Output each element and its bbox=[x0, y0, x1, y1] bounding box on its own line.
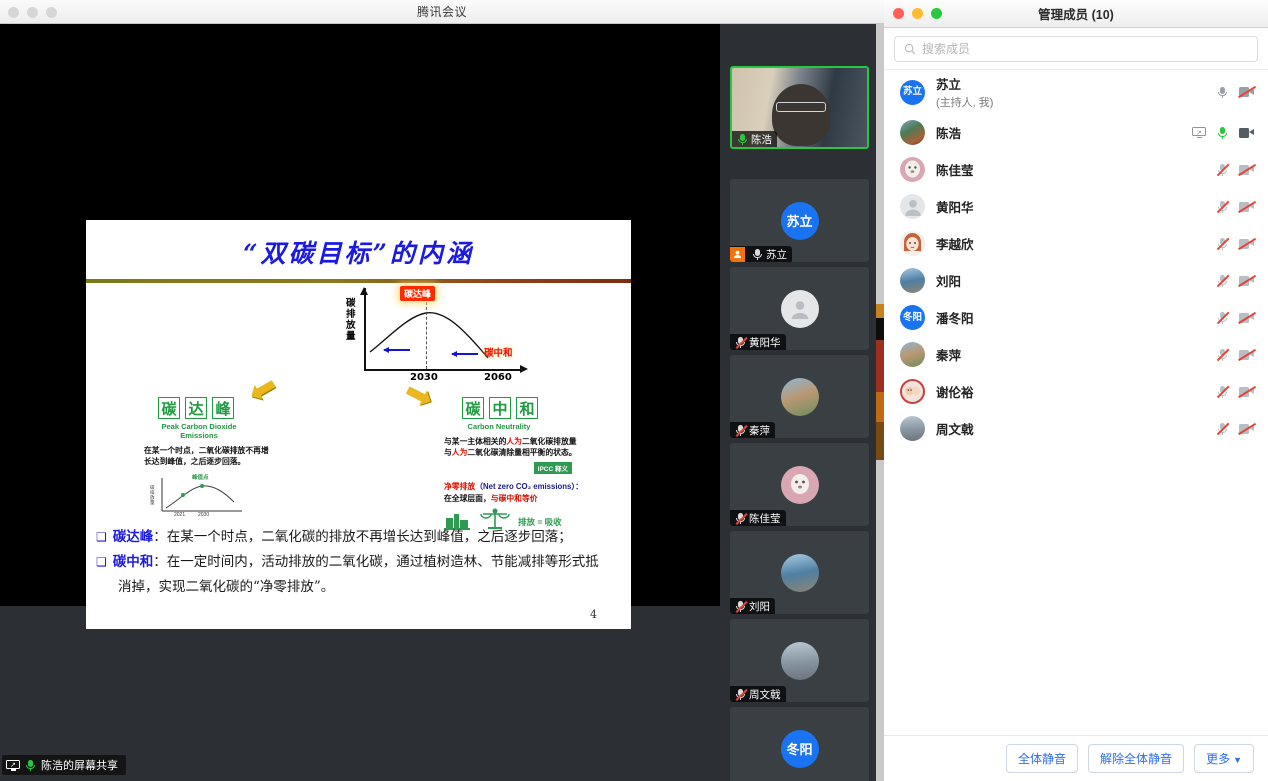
avatar-photo bbox=[900, 342, 925, 367]
chart-arrow-left bbox=[384, 349, 410, 351]
tile-name: 刘阳 bbox=[749, 599, 770, 614]
participant-controls[interactable] bbox=[1217, 163, 1254, 176]
avatar: 冬阳 bbox=[781, 730, 819, 768]
bullet-text: ：在一定时间内，活动排放的二氧化碳，通过植树造林、节能减排等形式抵 bbox=[153, 554, 599, 570]
netzero-line: 净零排放（Net zero CO₂ emissions）： bbox=[444, 481, 619, 492]
emissions-curve-chart: 碳排放量 碳达峰 碳中和 2030 2060 bbox=[336, 288, 526, 383]
mic-off-icon[interactable] bbox=[1217, 274, 1228, 287]
minimize-button[interactable] bbox=[27, 7, 38, 18]
mic-off-icon[interactable] bbox=[1217, 311, 1228, 324]
avatar-initials: 苏立 bbox=[903, 87, 922, 97]
screen-share-banner: ↗ 陈浩的屏幕共享 bbox=[2, 755, 126, 775]
mic-off-icon[interactable] bbox=[1217, 422, 1228, 435]
participants-panel: 管理成员 (10) 苏立 苏立 (主持人, 我) bbox=[884, 0, 1268, 781]
chart-peak-label: 碳达峰 bbox=[400, 286, 435, 301]
background-window-sliver bbox=[876, 24, 884, 781]
maximize-button[interactable] bbox=[931, 8, 942, 19]
tile-name: 黄阳华 bbox=[749, 335, 781, 350]
participant-row-chenjiaying[interactable]: 陈佳莹 bbox=[884, 151, 1268, 188]
mini-chart-ylabel: 碳排放量 bbox=[150, 485, 157, 505]
tile-label: 黄阳华 bbox=[730, 334, 786, 350]
chart-arrow-right bbox=[452, 353, 478, 355]
search-area bbox=[884, 28, 1268, 69]
video-tile-huangyanghua[interactable]: 黄阳华 bbox=[730, 267, 869, 350]
camera-on-icon[interactable] bbox=[1239, 128, 1254, 138]
slide-title: “双碳目标”的内涵 bbox=[86, 234, 631, 270]
mic-on-icon bbox=[25, 759, 36, 772]
tile-label: 周文戟 bbox=[730, 686, 786, 702]
meeting-window: “双碳目标”的内涵 碳排放量 碳达峰 碳中和 2030 2060 bbox=[0, 0, 884, 781]
avatar-initials: 冬阳 bbox=[786, 739, 812, 758]
camera-off-icon[interactable] bbox=[1239, 276, 1254, 286]
avatar-photo bbox=[781, 642, 819, 680]
video-filmstrip[interactable]: 陈浩 苏立 苏立 bbox=[722, 24, 876, 781]
tile-name: 陈浩 bbox=[751, 132, 772, 147]
participant-controls[interactable]: ↗ bbox=[1192, 126, 1254, 139]
neutral-body-2b: 人为 bbox=[452, 448, 468, 457]
tile-name: 周文戟 bbox=[749, 687, 781, 702]
presentation-slide: “双碳目标”的内涵 碳排放量 碳达峰 碳中和 2030 2060 bbox=[86, 220, 631, 629]
concept-peak-chars: 碳 达 峰 bbox=[158, 397, 314, 419]
avatar: 冬阳 bbox=[900, 305, 925, 330]
neutral-body-2c: 二氧化碳清除量相平衡的状态。 bbox=[467, 448, 576, 457]
avatar-photo bbox=[900, 120, 925, 145]
participant-name: 周文戟 bbox=[936, 419, 1206, 438]
mic-off-icon bbox=[735, 688, 746, 701]
glasses bbox=[776, 102, 826, 112]
camera-off-icon[interactable] bbox=[1239, 202, 1254, 212]
concept-peak-subtitle: Peak Carbon Dioxide Emissions bbox=[144, 422, 254, 440]
avatar-initials: 苏立 bbox=[786, 211, 812, 230]
participant-row-qinping[interactable]: 秦萍 bbox=[884, 336, 1268, 373]
tile-label: 苏立 bbox=[730, 246, 792, 262]
participant-name: 谢伦裕 bbox=[936, 382, 1206, 401]
chart-curve bbox=[336, 288, 526, 383]
bullet-item: ❑ 碳达峰：在某一个时点，二氧化碳的排放不再增长达到峰值，之后逐步回落； bbox=[96, 525, 624, 550]
participant-controls[interactable] bbox=[1217, 200, 1254, 213]
mic-off-icon[interactable] bbox=[1217, 348, 1228, 361]
meeting-title-bar[interactable]: 腾讯会议 bbox=[0, 0, 884, 24]
video-tile-zhouwenji[interactable]: 周文戟 bbox=[730, 619, 869, 702]
participant-controls[interactable] bbox=[1217, 422, 1254, 435]
mute-all-button[interactable]: 全体静音 bbox=[1006, 744, 1078, 773]
concept-neutral-body: 与某一主体相关的人为二氧化碳排放量 与人为二氧化碳清除量相平衡的状态。 bbox=[444, 436, 614, 458]
tile-label: 陈浩 bbox=[732, 131, 777, 147]
panel-footer: 全体静音 解除全体静音 更多▼ bbox=[884, 735, 1268, 781]
mic-on-icon[interactable] bbox=[1217, 126, 1228, 139]
concept-neutral-subtitle: Carbon Neutrality bbox=[444, 422, 554, 431]
camera-off-icon[interactable] bbox=[1239, 239, 1254, 249]
panel-window-controls[interactable] bbox=[893, 8, 942, 19]
participant-row-huangyanghua[interactable]: 黄阳华 bbox=[884, 188, 1268, 225]
host-icon bbox=[730, 247, 745, 262]
camera-off-icon[interactable] bbox=[1239, 165, 1254, 175]
participant-name: 陈佳莹 bbox=[936, 160, 1206, 179]
netzero-line2: 在全球层面，与碳中和等价 bbox=[444, 493, 619, 504]
tile-name: 陈佳莹 bbox=[749, 511, 781, 526]
participant-row-zhouwenji[interactable]: 周文戟 bbox=[884, 410, 1268, 447]
avatar-photo bbox=[900, 268, 925, 293]
chart-peak-guideline bbox=[426, 302, 427, 369]
slide-page-number: 4 bbox=[590, 608, 597, 621]
bullet-item: ❑ 碳中和：在一定时间内，活动排放的二氧化碳，通过植树造林、节能减排等形式抵 bbox=[96, 550, 624, 575]
participant-list[interactable]: 苏立 苏立 (主持人, 我) bbox=[884, 69, 1268, 735]
search-input[interactable] bbox=[922, 42, 1248, 56]
mic-on-icon bbox=[737, 133, 748, 146]
video-tile-qinping[interactable]: 秦萍 bbox=[730, 355, 869, 438]
close-button[interactable] bbox=[8, 7, 19, 18]
ipcc-tag: IPCC 释义 bbox=[534, 462, 572, 474]
concept-char: 峰 bbox=[212, 397, 234, 419]
concept-char: 达 bbox=[185, 397, 207, 419]
avatar-default bbox=[900, 194, 925, 219]
unmute-all-button[interactable]: 解除全体静音 bbox=[1088, 744, 1184, 773]
shared-screen-stage: “双碳目标”的内涵 碳排放量 碳达峰 碳中和 2030 2060 bbox=[0, 24, 720, 606]
netzero-cn: 净零排放 bbox=[444, 482, 475, 491]
video-subject bbox=[772, 84, 830, 146]
avatar-initials: 冬阳 bbox=[903, 313, 922, 323]
concept-neutral-chars: 碳 中 和 bbox=[462, 397, 619, 419]
concept-carbon-neutrality: 碳 中 和 Carbon Neutrality 与某一主体相关的人为二氧化碳排放… bbox=[444, 397, 619, 530]
video-tile-dongyang[interactable]: 冬阳 bbox=[730, 707, 869, 781]
mic-icon[interactable] bbox=[1217, 86, 1228, 99]
window-controls[interactable] bbox=[8, 7, 57, 18]
slide-bullets: ❑ 碳达峰：在某一个时点，二氧化碳的排放不再增长达到峰值，之后逐步回落； ❑ 碳… bbox=[96, 525, 624, 600]
mini-chart-tick-2030: 2030 bbox=[198, 512, 209, 518]
mic-off-icon bbox=[735, 424, 746, 437]
participant-controls[interactable] bbox=[1217, 86, 1254, 99]
concept-peak-carbon: 碳 达 峰 Peak Carbon Dioxide Emissions 在某一个… bbox=[144, 397, 314, 519]
netzero-line2a: 在全球层面， bbox=[444, 494, 491, 503]
mic-off-icon bbox=[735, 600, 746, 613]
participant-name-text: 苏立 bbox=[936, 78, 961, 92]
neutral-body-1a: 与某一主体相关的 bbox=[444, 437, 506, 446]
participant-role: (主持人, 我) bbox=[936, 94, 1206, 110]
chart-tick-2060: 2060 bbox=[484, 372, 512, 383]
participant-name: 陈浩 bbox=[936, 123, 1181, 142]
concept-char: 碳 bbox=[462, 397, 484, 419]
bullet-key: 碳达峰 bbox=[113, 529, 154, 545]
participant-name: 刘阳 bbox=[936, 271, 1206, 290]
avatar-photo bbox=[900, 157, 925, 182]
mic-icon bbox=[752, 248, 763, 261]
participant-row-xielunyu[interactable]: 谢伦裕 bbox=[884, 373, 1268, 410]
bullet-key: 碳中和 bbox=[113, 554, 154, 570]
concept-char: 碳 bbox=[158, 397, 180, 419]
bullet-text: ：在某一个时点，二氧化碳的排放不再增长达到峰值，之后逐步回落； bbox=[153, 529, 572, 545]
participant-controls[interactable] bbox=[1217, 385, 1254, 398]
video-tile-chenjiaying[interactable]: 陈佳莹 bbox=[730, 443, 869, 526]
mic-off-icon[interactable] bbox=[1217, 385, 1228, 398]
avatar-default bbox=[781, 290, 819, 328]
meeting-window-title: 腾讯会议 bbox=[0, 3, 884, 20]
participant-controls[interactable] bbox=[1217, 237, 1254, 250]
bullet-text: 消掉，实现二氧化碳的“净零排放”。 bbox=[118, 575, 334, 600]
bullet-marker: ❑ bbox=[96, 525, 107, 550]
participant-name: 苏立 (主持人, 我) bbox=[936, 74, 1206, 110]
tile-label: 秦萍 bbox=[730, 422, 775, 438]
camera-off-icon[interactable] bbox=[1239, 387, 1254, 397]
avatar-photo bbox=[900, 416, 925, 441]
avatar-photo bbox=[900, 379, 925, 404]
tile-name: 苏立 bbox=[766, 247, 787, 262]
camera-off-icon[interactable] bbox=[1239, 87, 1254, 97]
participant-row-liyuexin[interactable]: 李越欣 bbox=[884, 225, 1268, 262]
avatar: 苏立 bbox=[900, 80, 925, 105]
chart-neutrality-label: 碳中和 bbox=[484, 345, 513, 359]
neutral-body-2a: 与 bbox=[444, 448, 452, 457]
participant-name: 李越欣 bbox=[936, 234, 1206, 253]
tile-label: 陈佳莹 bbox=[730, 510, 786, 526]
mic-off-icon[interactable] bbox=[1217, 163, 1228, 176]
close-button[interactable] bbox=[893, 8, 904, 19]
mic-off-icon bbox=[735, 336, 746, 349]
avatar: 苏立 bbox=[781, 202, 819, 240]
neutral-body-1b: 人为 bbox=[506, 437, 522, 446]
video-tile-chenhao[interactable]: 陈浩 bbox=[730, 66, 869, 149]
video-tile-liuyang[interactable]: 刘阳 bbox=[730, 531, 869, 614]
search-icon bbox=[904, 43, 916, 55]
participant-controls[interactable] bbox=[1217, 274, 1254, 287]
participant-row-pandongyang[interactable]: 冬阳 潘冬阳 bbox=[884, 299, 1268, 336]
slide-title-divider bbox=[86, 279, 631, 283]
avatar-photo bbox=[900, 231, 925, 256]
screen-share-icon: ↗ bbox=[6, 760, 20, 771]
avatar-photo bbox=[781, 466, 819, 504]
participant-row-suli[interactable]: 苏立 苏立 (主持人, 我) bbox=[884, 70, 1268, 114]
panel-title-bar[interactable]: 管理成员 (10) bbox=[884, 0, 1268, 28]
netzero-line2b: 与碳中和等价 bbox=[491, 494, 538, 503]
camera-off-icon[interactable] bbox=[1239, 350, 1254, 360]
participant-name: 秦萍 bbox=[936, 345, 1206, 364]
concept-char: 和 bbox=[516, 397, 538, 419]
video-tile-suli[interactable]: 苏立 苏立 bbox=[730, 179, 869, 262]
mini-chart-tick-2021: 2021 bbox=[174, 512, 185, 518]
mic-off-icon[interactable] bbox=[1217, 200, 1228, 213]
tile-name: 秦萍 bbox=[749, 423, 770, 438]
screen-share-icon[interactable]: ↗ bbox=[1192, 127, 1206, 138]
participant-row-liuyang[interactable]: 刘阳 bbox=[884, 262, 1268, 299]
participant-name: 潘冬阳 bbox=[936, 308, 1206, 327]
share-banner-label: 陈浩的屏幕共享 bbox=[41, 757, 118, 773]
bullet-item-continuation: 消掉，实现二氧化碳的“净零排放”。 bbox=[96, 575, 624, 600]
camera-off-icon[interactable] bbox=[1239, 313, 1254, 323]
concept-char: 中 bbox=[489, 397, 511, 419]
participant-controls[interactable] bbox=[1217, 311, 1254, 324]
more-label: 更多 bbox=[1206, 752, 1230, 766]
mini-peak-chart: 峰值点 碳排放量 2021 2030 bbox=[150, 475, 250, 519]
neutral-body-1c: 二氧化碳排放量 bbox=[522, 437, 577, 446]
concept-peak-body: 在某一个时点，二氧化碳排放不再增长达到峰值，之后逐步回落。 bbox=[144, 445, 272, 467]
tile-label: 刘阳 bbox=[730, 598, 775, 614]
minimize-button[interactable] bbox=[912, 8, 923, 19]
more-button[interactable]: 更多▼ bbox=[1194, 744, 1254, 773]
participant-name: 黄阳华 bbox=[936, 197, 1206, 216]
mic-off-icon[interactable] bbox=[1217, 237, 1228, 250]
bullet-marker: ❑ bbox=[96, 550, 107, 575]
maximize-button[interactable] bbox=[46, 7, 57, 18]
avatar-photo bbox=[781, 378, 819, 416]
participant-row-chenhao[interactable]: 陈浩 ↗ bbox=[884, 114, 1268, 151]
chevron-down-icon: ▼ bbox=[1233, 755, 1242, 765]
mic-off-icon bbox=[735, 512, 746, 525]
mini-chart-peak-label: 峰值点 bbox=[192, 473, 209, 481]
camera-off-icon[interactable] bbox=[1239, 424, 1254, 434]
avatar-photo bbox=[781, 554, 819, 592]
search-box[interactable] bbox=[894, 36, 1258, 62]
netzero-en: （Net zero CO₂ emissions）： bbox=[475, 482, 583, 491]
participant-controls[interactable] bbox=[1217, 348, 1254, 361]
